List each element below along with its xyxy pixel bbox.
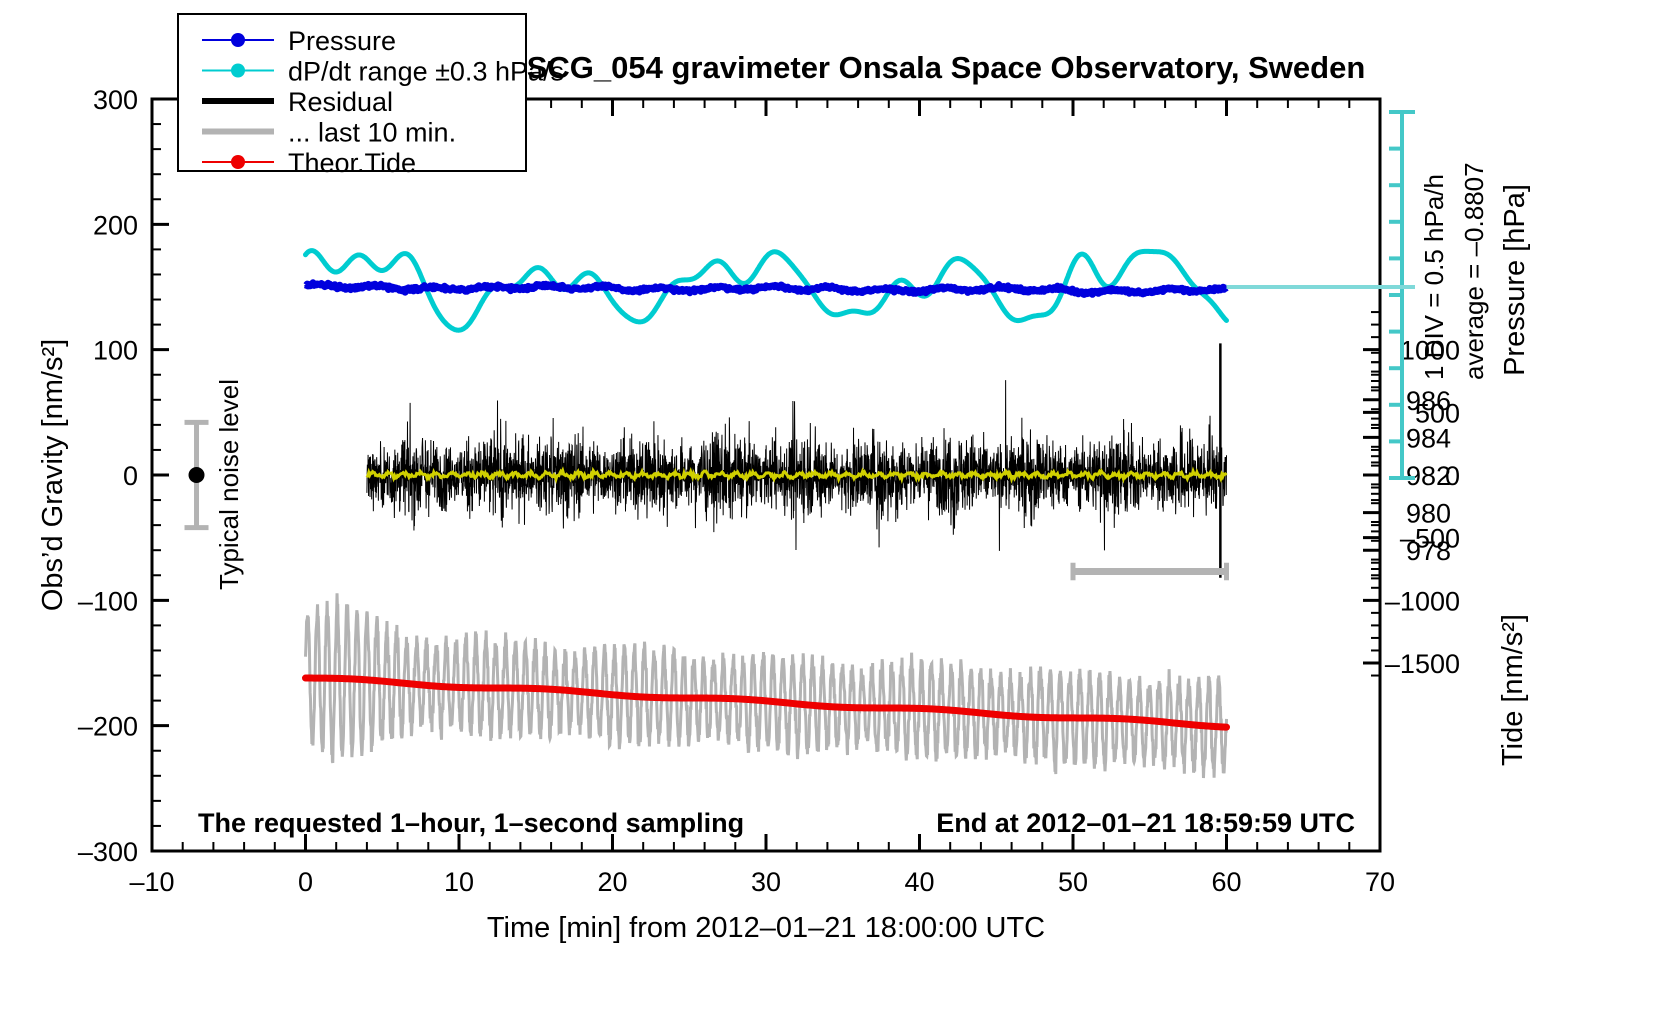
footer-left: The requested 1–hour, 1–second sampling <box>198 808 744 838</box>
chart-title: SCG_054 gravimeter Onsala Space Observat… <box>527 50 1366 85</box>
legend-marker-1 <box>231 64 245 78</box>
noise-level-label: Typical noise level <box>214 379 244 590</box>
y-tick-label: 0 <box>123 461 138 491</box>
y-tick-label: 300 <box>93 85 138 115</box>
y-tick-label: 200 <box>93 210 138 240</box>
legend-marker-4 <box>231 155 245 169</box>
x-tick-label: 10 <box>444 867 474 897</box>
x-tick-label: 40 <box>904 867 934 897</box>
footer-right: End at 2012–01–21 18:59:59 UTC <box>936 808 1355 838</box>
x-tick-label: 30 <box>751 867 781 897</box>
chart-page: –10010203040506070Time [min] from 2012–0… <box>0 0 1676 1020</box>
tide-tick-label: –1000 <box>1385 586 1460 616</box>
legend-label-1: dP/dt range ±0.3 hPa/s <box>288 57 564 87</box>
legend-marker-0 <box>231 33 245 47</box>
x-tick-label: 70 <box>1365 867 1395 897</box>
y-tick-label: –100 <box>78 586 138 616</box>
x-tick-label: 20 <box>597 867 627 897</box>
tide-tick-label: 500 <box>1415 398 1460 428</box>
legend-label-2: Residual <box>288 87 393 117</box>
y-tick-label: –200 <box>78 712 138 742</box>
x-tick-label: 60 <box>1211 867 1241 897</box>
tide-axis-title: Tide [nm/s²] <box>1497 614 1529 766</box>
legend-label-0: Pressure <box>288 26 396 56</box>
x-tick-label: 0 <box>298 867 313 897</box>
y-axis-title: Obs’d Gravity [nm/s²] <box>37 339 69 611</box>
x-tick-label: 50 <box>1058 867 1088 897</box>
x-axis-title: Time [min] from 2012–01–21 18:00:00 UTC <box>487 912 1045 944</box>
x-tick-label: –10 <box>129 867 174 897</box>
legend-label-3: ... last 10 min. <box>288 118 456 148</box>
noise-center-dot <box>189 467 205 483</box>
average-label: average = –0.8807 <box>1459 162 1489 380</box>
tide-tick-label: 0 <box>1445 461 1460 491</box>
pressure-axis-title: Pressure [hPa] <box>1499 184 1531 376</box>
div-scale-label: 1 DIV = 0.5 hPa/h <box>1419 174 1449 380</box>
gravimeter-plot: –10010203040506070Time [min] from 2012–0… <box>0 0 1676 1020</box>
legend-label-4: Theor.Tide <box>288 148 416 178</box>
y-tick-label: 100 <box>93 336 138 366</box>
tide-tick-label: –1500 <box>1385 649 1460 679</box>
y-tick-label: –300 <box>78 837 138 867</box>
tide-tick-label: –500 <box>1400 524 1460 554</box>
